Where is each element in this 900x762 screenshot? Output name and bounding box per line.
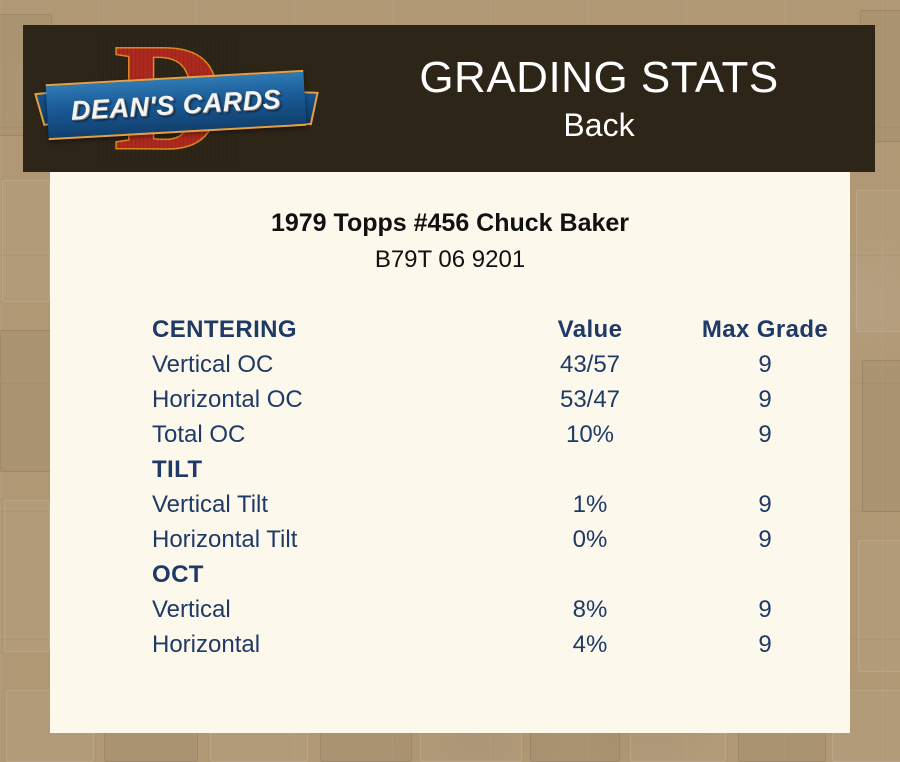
deans-cards-logo[interactable]: D DEAN'S CARDS: [47, 29, 307, 169]
stat-label: Total OC: [152, 417, 500, 452]
stat-max-grade: 9: [680, 627, 850, 662]
stat-max-grade: 9: [680, 592, 850, 627]
watermark-card: [858, 540, 900, 672]
stats-row: Total OC10%9: [152, 417, 850, 452]
section-name: OCT: [152, 557, 500, 592]
column-header-max-grade: Max Grade: [680, 312, 850, 347]
stats-row: Vertical OC43/579: [152, 347, 850, 382]
stat-label: Horizontal: [152, 627, 500, 662]
watermark-card: [0, 330, 52, 472]
stats-section-header: TILT: [152, 452, 850, 487]
watermark-card: [4, 500, 50, 652]
stat-label: Vertical OC: [152, 347, 500, 382]
logo-ribbon: DEAN'S CARDS: [46, 70, 307, 140]
card-title: 1979 Topps #456 Chuck Baker: [50, 209, 850, 238]
column-header-max-grade: [680, 452, 850, 487]
grading-stats-table: CENTERINGValueMax GradeVertical OC43/579…: [152, 312, 850, 662]
content-panel: 1979 Topps #456 Chuck Baker B79T 06 9201…: [50, 172, 850, 733]
stat-max-grade: 9: [680, 522, 850, 557]
stat-label: Horizontal OC: [152, 382, 500, 417]
stat-max-grade: 9: [680, 417, 850, 452]
stat-value: 0%: [500, 522, 680, 557]
logo-ribbon-text: DEAN'S CARDS: [70, 84, 282, 127]
stat-value: 43/57: [500, 347, 680, 382]
column-header-value: Value: [500, 312, 680, 347]
section-name: CENTERING: [152, 312, 500, 347]
stats-row: Horizontal Tilt0%9: [152, 522, 850, 557]
header-title-group: GRADING STATS Back: [323, 25, 875, 172]
watermark-card: [862, 360, 900, 512]
stats-section-header: OCT: [152, 557, 850, 592]
header-bar: D DEAN'S CARDS GRADING STATS Back: [23, 25, 875, 172]
column-header-max-grade: [680, 557, 850, 592]
stat-value: 8%: [500, 592, 680, 627]
section-name: TILT: [152, 452, 500, 487]
page-subtitle: Back: [563, 105, 634, 145]
stats-row: Horizontal OC53/479: [152, 382, 850, 417]
stat-label: Horizontal Tilt: [152, 522, 500, 557]
stat-value: 10%: [500, 417, 680, 452]
stat-value: 4%: [500, 627, 680, 662]
watermark-card: [2, 180, 50, 302]
stats-row: Vertical Tilt1%9: [152, 487, 850, 522]
column-header-value: [500, 452, 680, 487]
stats-section-header: CENTERINGValueMax Grade: [152, 312, 850, 347]
stat-value: 53/47: [500, 382, 680, 417]
stat-value: 1%: [500, 487, 680, 522]
stats-row: Horizontal4%9: [152, 627, 850, 662]
stat-label: Vertical: [152, 592, 500, 627]
stat-max-grade: 9: [680, 382, 850, 417]
stat-label: Vertical Tilt: [152, 487, 500, 522]
watermark-card: [856, 190, 900, 332]
column-header-value: [500, 557, 680, 592]
card-serial-number: B79T 06 9201: [50, 246, 850, 274]
stats-row: Vertical8%9: [152, 592, 850, 627]
stat-max-grade: 9: [680, 347, 850, 382]
stat-max-grade: 9: [680, 487, 850, 522]
page-title: GRADING STATS: [419, 53, 778, 103]
